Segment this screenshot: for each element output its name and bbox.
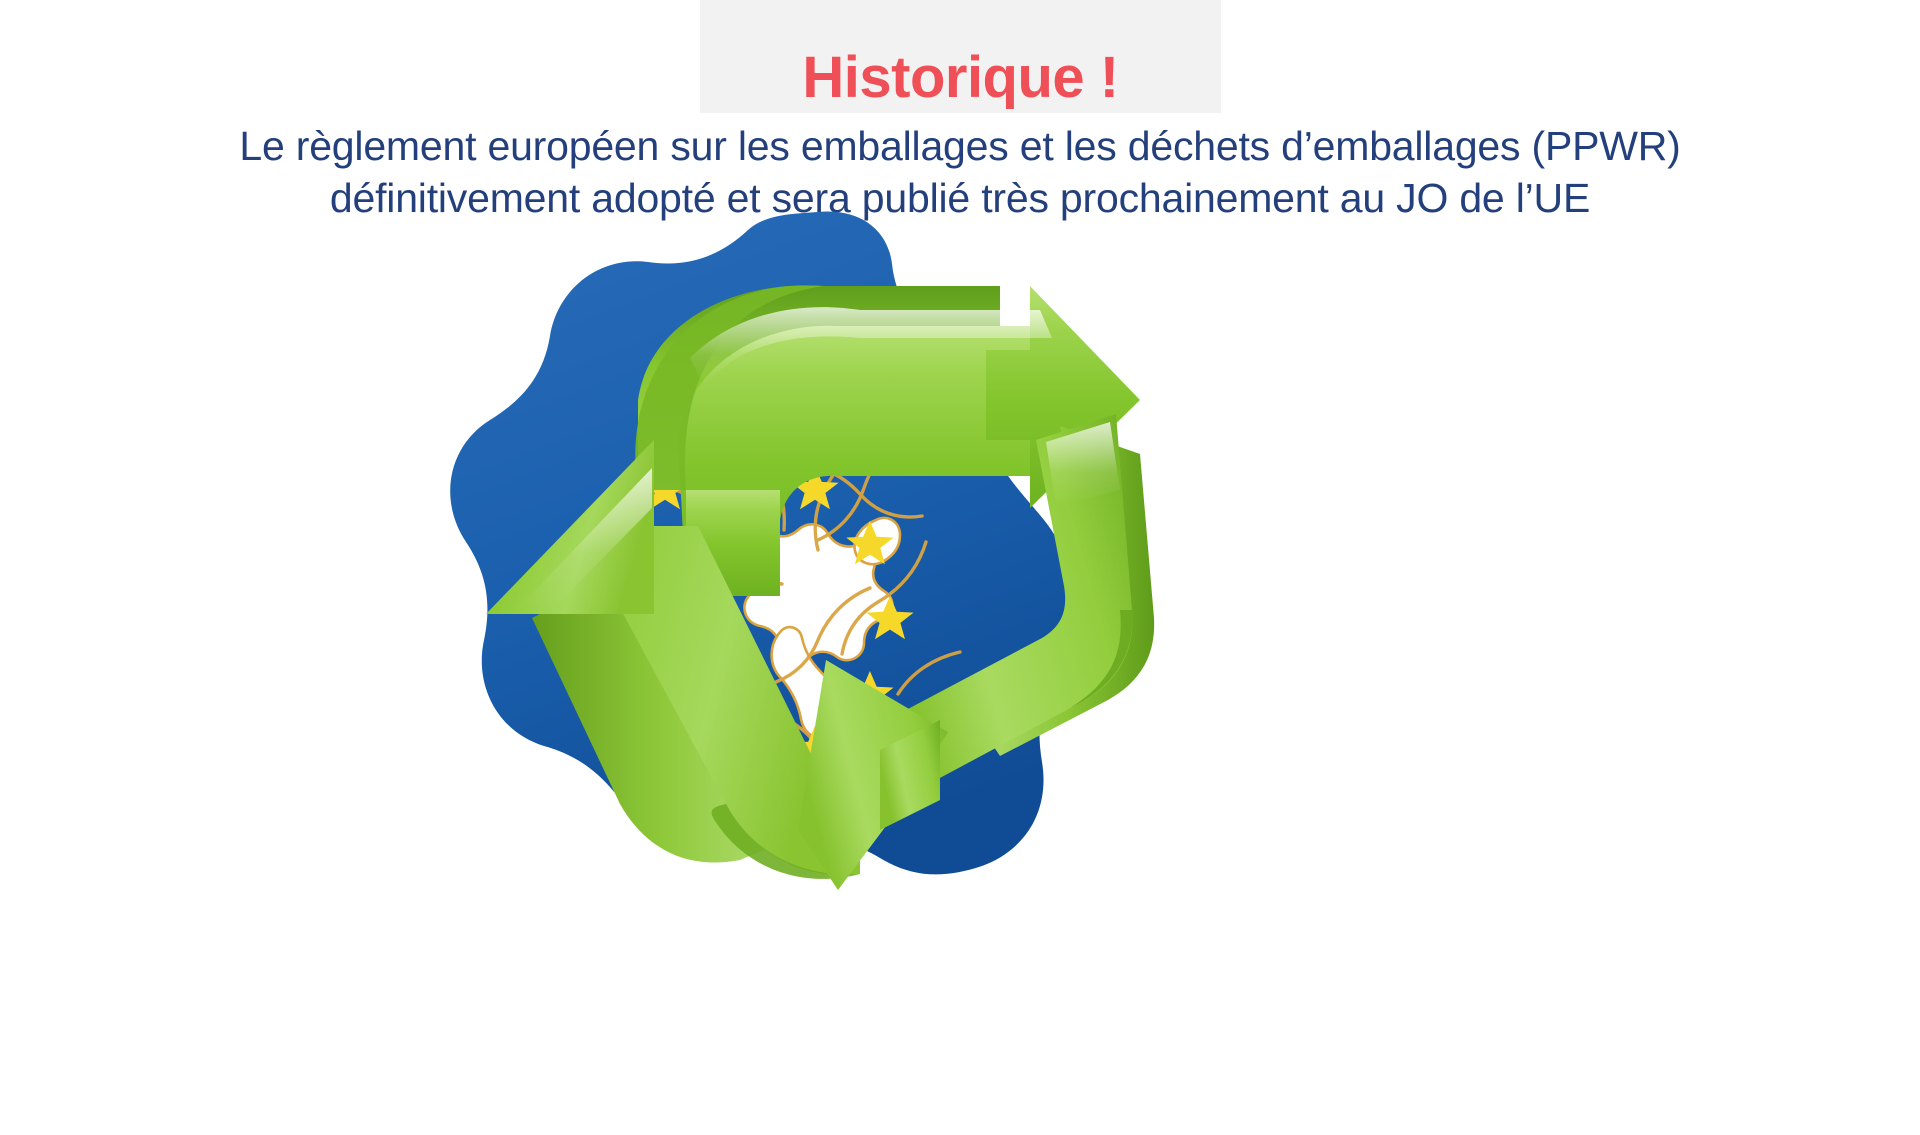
- subtitle-line-1: Le règlement européen sur les emballages…: [0, 120, 1920, 172]
- recycling-eu-illustration: [440, 190, 1180, 890]
- title-banner: Historique !: [700, 0, 1221, 113]
- slide-root: Historique ! Le règlement européen sur l…: [0, 0, 1920, 1135]
- page-title: Historique !: [802, 49, 1118, 107]
